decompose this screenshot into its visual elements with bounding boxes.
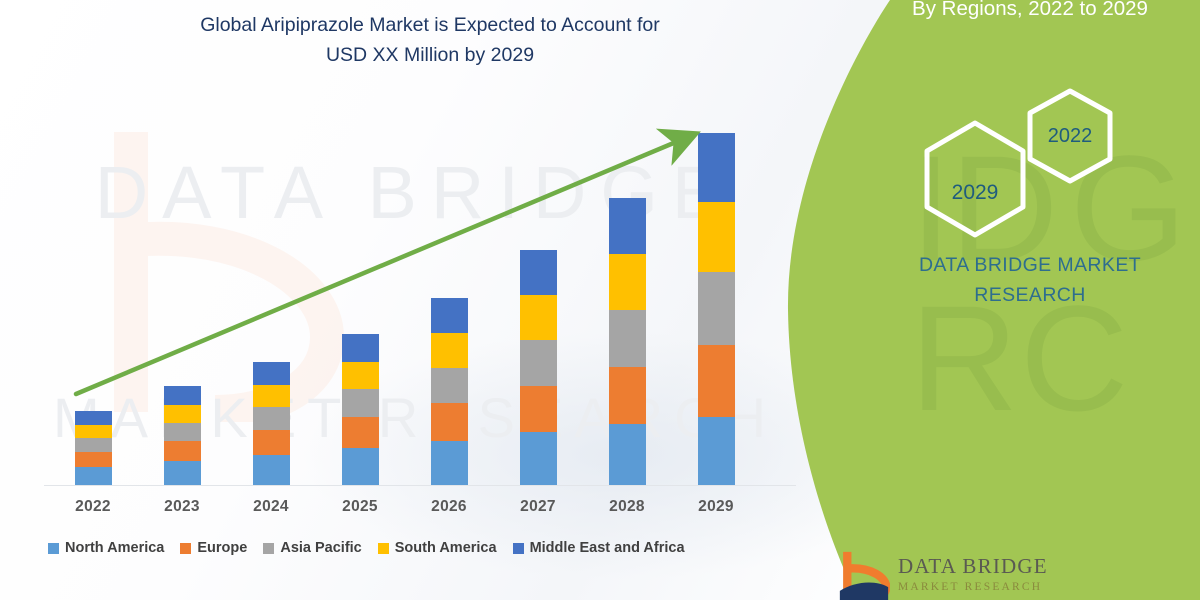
panel-heading: By Regions, 2022 to 2029 [860,0,1200,22]
infographic-canvas: DATA BRIDGE MARKET RESEARCH I D G R C By… [0,0,1200,600]
legend-item-middle-east-and-africa[interactable]: Middle East and Africa [513,540,685,556]
footer-logo: DATA BRIDGE MARKET RESEARCH [838,548,1078,600]
legend-item-europe[interactable]: Europe [180,540,247,556]
hexagon-shapes-icon [900,85,1160,245]
hexagon-label-2029: 2029 [875,181,1075,205]
legend-swatch-icon [180,543,191,554]
hexagon-group: 2029 2022 [900,85,1160,235]
legend-label: South America [395,540,497,556]
legend-swatch-icon [378,543,389,554]
footer-logo-sub: MARKET RESEARCH [898,581,1042,593]
databridge-logo-icon [838,550,890,600]
legend-label: Middle East and Africa [530,540,685,556]
legend-swatch-icon [48,543,59,554]
trend-arrow-icon [0,0,830,600]
footer-logo-text: DATA BRIDGE [898,554,1048,579]
legend-label: North America [65,540,164,556]
legend-swatch-icon [263,543,274,554]
legend-label: Europe [197,540,247,556]
brand-line-1: DATA BRIDGE MARKET [880,250,1180,280]
chart-legend: North AmericaEuropeAsia PacificSouth Ame… [48,540,788,556]
brand-line-2: RESEARCH [880,280,1180,310]
legend-item-asia-pacific[interactable]: Asia Pacific [263,540,361,556]
chart-plot-area: 20222023202420252026202720282029 [0,0,830,600]
legend-item-south-america[interactable]: South America [378,540,497,556]
brand-name: DATA BRIDGE MARKET RESEARCH [880,250,1180,310]
hexagon-label-2022: 2022 [1020,125,1120,148]
legend-label: Asia Pacific [280,540,361,556]
legend-item-north-america[interactable]: North America [48,540,164,556]
legend-swatch-icon [513,543,524,554]
